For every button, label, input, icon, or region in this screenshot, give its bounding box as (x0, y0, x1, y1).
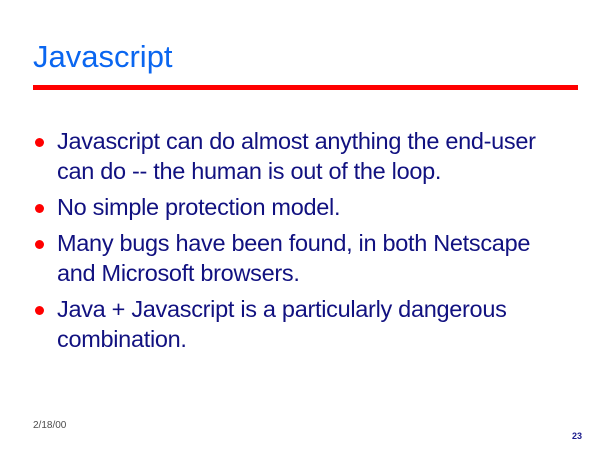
list-item: Java + Javascript is a particularly dang… (33, 294, 573, 354)
bullet-dot-icon (35, 204, 44, 213)
page-number: 23 (572, 431, 582, 441)
list-item: Javascript can do almost anything the en… (33, 126, 573, 186)
bullet-list: Javascript can do almost anything the en… (33, 126, 573, 354)
list-item-label: Javascript can do almost anything the en… (57, 126, 573, 186)
list-item-label: No simple protection model. (57, 192, 573, 222)
list-item: Many bugs have been found, in both Netsc… (33, 228, 573, 288)
list-item-label: Java + Javascript is a particularly dang… (57, 294, 573, 354)
page-title: Javascript (33, 38, 173, 76)
presentation-slide: Javascript Javascript can do almost anyt… (0, 0, 600, 450)
bullet-dot-icon (35, 138, 44, 147)
bullet-dot-icon (35, 306, 44, 315)
title-divider-rule (33, 85, 578, 90)
bullet-dot-icon (35, 240, 44, 249)
list-item-label: Many bugs have been found, in both Netsc… (57, 228, 573, 288)
list-item: No simple protection model. (33, 192, 573, 222)
footer-date: 2/18/00 (33, 420, 66, 431)
